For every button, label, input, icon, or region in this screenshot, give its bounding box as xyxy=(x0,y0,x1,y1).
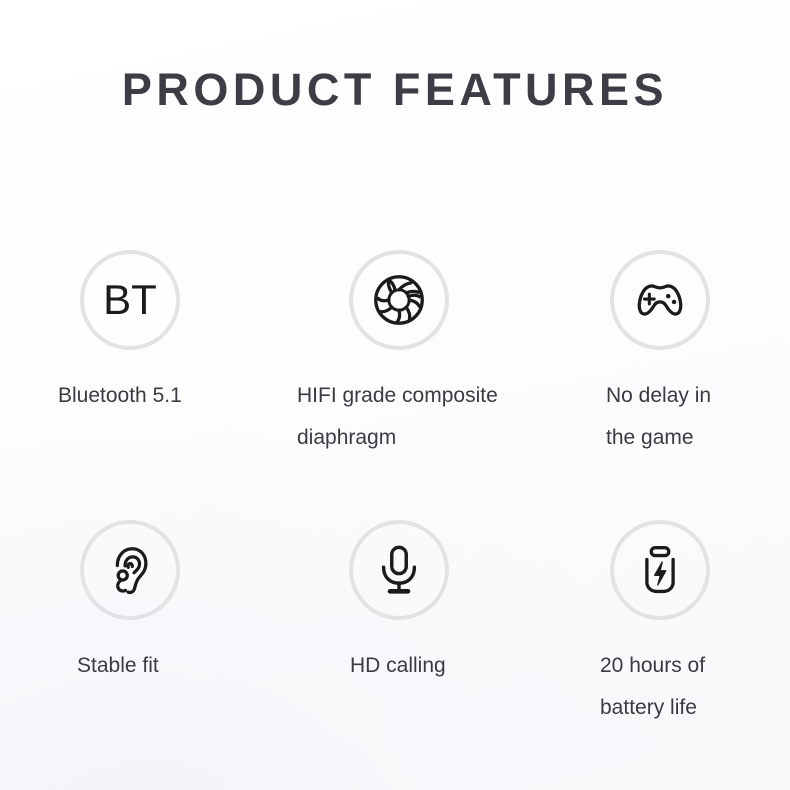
bluetooth-bt-text-icon: BT xyxy=(80,250,180,350)
feature-caption: HD calling xyxy=(350,645,530,687)
feature-caption: Bluetooth 5.1 xyxy=(58,375,272,417)
microphone-icon-wrap xyxy=(349,520,449,620)
feature-item-hd-calling: HD calling xyxy=(280,520,530,687)
ear-icon-wrap xyxy=(80,520,180,620)
bt-label: BT xyxy=(103,279,157,321)
gamepad-icon-wrap xyxy=(610,250,710,350)
feature-item-stable-fit: Stable fit xyxy=(22,520,272,687)
feature-item-bluetooth: BT Bluetooth 5.1 xyxy=(22,250,272,417)
feature-item-diaphragm: HIFI grade composite diaphragm xyxy=(280,250,530,459)
gamepad-icon xyxy=(629,269,691,331)
page-title: PRODUCT FEATURES xyxy=(0,64,790,116)
feature-grid: BT Bluetooth 5.1 xyxy=(0,250,790,790)
feature-caption: 20 hours of battery life xyxy=(600,645,790,729)
feature-row-2: Stable fit HD calling xyxy=(0,520,790,790)
battery-charging-icon-wrap xyxy=(610,520,710,620)
product-features-page: PRODUCT FEATURES BT Bluetooth 5.1 xyxy=(0,0,790,790)
feature-caption: No delay in the game xyxy=(606,375,790,459)
ear-icon xyxy=(101,541,159,599)
microphone-icon xyxy=(370,541,428,599)
feature-caption: Stable fit xyxy=(77,645,272,687)
feature-item-battery: 20 hours of battery life xyxy=(540,520,790,729)
feature-item-gamepad: No delay in the game xyxy=(540,250,790,459)
feature-row-1: BT Bluetooth 5.1 xyxy=(0,250,790,520)
speaker-diaphragm-icon xyxy=(368,269,430,331)
feature-caption: HIFI grade composite diaphragm xyxy=(297,375,530,459)
speaker-diaphragm-icon-wrap xyxy=(349,250,449,350)
battery-charging-icon xyxy=(632,542,688,598)
